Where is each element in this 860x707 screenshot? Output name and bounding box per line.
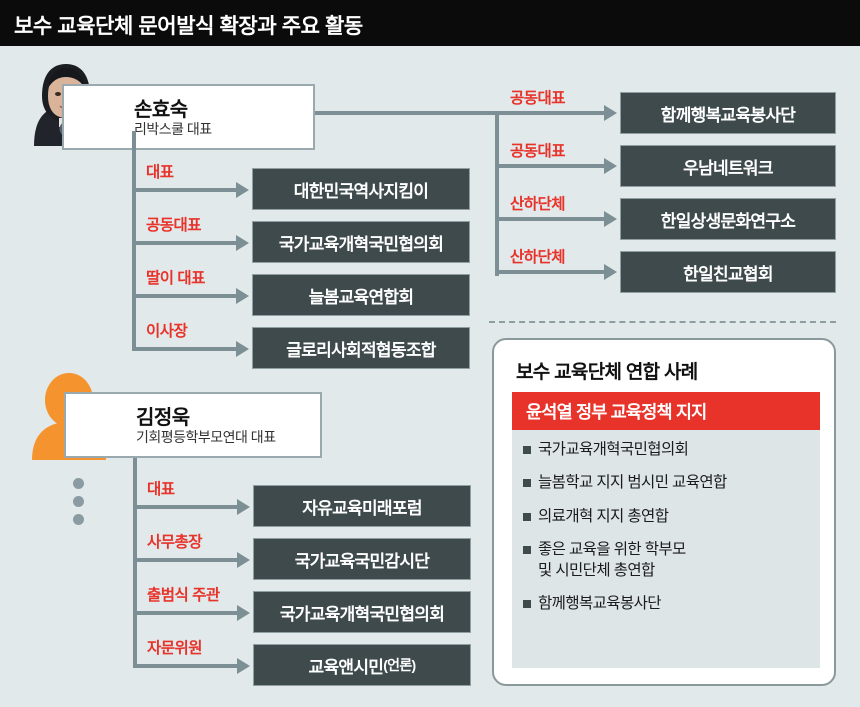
relation-label-son-right-1: 공동대표 xyxy=(510,86,565,108)
connector-son-left-4 xyxy=(132,347,236,351)
arrow-son-left-3 xyxy=(236,288,249,304)
relation-label-son-right-3: 산하단체 xyxy=(510,192,565,214)
relation-label-son-right-4: 산하단체 xyxy=(510,245,565,267)
arrow-son-right-2 xyxy=(604,158,617,174)
org-box-son-right-3: 한일상생문화연구소 xyxy=(620,198,836,240)
page-title: 보수 교육단체 문어발식 확장과 주요 활동 xyxy=(14,10,363,40)
relation-label-son-left-4: 이사장 xyxy=(146,319,187,341)
connector-son-right-trunk xyxy=(495,111,499,276)
arrow-kim-1 xyxy=(237,499,250,515)
org-box-son-left-1: 대한민국역사지킴이 xyxy=(252,168,470,210)
org-box-son-left-2: 국가교육개혁국민협의회 xyxy=(252,221,470,263)
org-box-kim-4-paren: (언론) xyxy=(383,655,415,675)
info-panel-banner: 윤석열 정부 교육정책 지지 xyxy=(512,392,820,430)
connector-son-right-3 xyxy=(495,217,604,221)
list-item: 국가교육개혁국민협의회 xyxy=(512,440,820,460)
arrow-son-left-4 xyxy=(236,341,249,357)
person-name-kim-jeongwook: 김정욱 xyxy=(136,401,190,430)
connector-son-right-4 xyxy=(495,270,604,274)
connector-son-left-2 xyxy=(132,241,236,245)
connector-son-right-2 xyxy=(495,164,604,168)
list-item: 함께행복교육봉사단 xyxy=(512,594,820,614)
person-role-son-hyosook: 리박스쿨 대표 xyxy=(134,119,212,139)
arrow-son-right-4 xyxy=(604,264,617,280)
org-box-son-right-4: 한일친교협회 xyxy=(620,251,836,293)
org-box-kim-4: 교육앤시민(언론) xyxy=(253,644,471,686)
relation-label-son-left-2: 공동대표 xyxy=(146,213,201,235)
arrow-kim-3 xyxy=(237,605,250,621)
ellipsis-dot-3 xyxy=(73,514,84,525)
person-card-son-hyosook xyxy=(62,84,315,150)
org-box-son-left-3: 늘봄교육연합회 xyxy=(252,274,470,316)
connector-kim-3 xyxy=(133,611,237,615)
relation-label-kim-4: 자문위원 xyxy=(147,636,202,658)
ellipsis-dot-2 xyxy=(73,496,84,507)
org-box-kim-3: 국가교육개혁국민협의회 xyxy=(253,591,471,633)
title-bar: 보수 교육단체 문어발식 확장과 주요 활동 xyxy=(0,0,860,46)
relation-label-son-left-3: 딸이 대표 xyxy=(146,266,205,288)
connector-kim-trunk xyxy=(133,458,137,666)
person-role-kim-jeongwook: 기회평등학부모연대 대표 xyxy=(136,427,276,447)
arrow-son-right-1 xyxy=(604,105,617,121)
section-divider xyxy=(489,321,836,323)
relation-label-son-left-1: 대표 xyxy=(146,160,174,182)
connector-kim-2 xyxy=(133,558,237,562)
connector-kim-4 xyxy=(133,664,237,668)
org-box-son-right-2: 우남네트워크 xyxy=(620,145,836,187)
relation-label-kim-2: 사무총장 xyxy=(147,530,202,552)
relation-label-kim-1: 대표 xyxy=(147,477,175,499)
info-panel-title: 보수 교육단체 연합 사례 xyxy=(516,357,698,384)
relation-label-kim-3: 출범식 주관 xyxy=(147,583,220,605)
person-card-kim-jeongwook xyxy=(64,392,322,458)
relation-label-son-right-2: 공동대표 xyxy=(510,139,565,161)
arrow-son-left-2 xyxy=(236,235,249,251)
list-item: 좋은 교육을 위한 학부모 및 시민단체 총연합 xyxy=(512,540,700,581)
person-name-son-hyosook: 손효숙 xyxy=(134,93,188,122)
connector-son-to-right-trunk xyxy=(315,111,499,115)
org-box-kim-1: 자유교육미래포럼 xyxy=(253,485,471,527)
connector-son-left-3 xyxy=(132,294,236,298)
info-panel-body: 윤석열 정부 교육정책 지지 국가교육개혁국민협의회 늘봄학교 지지 범시민 교… xyxy=(512,392,820,668)
list-item: 늘봄학교 지지 범시민 교육연합 xyxy=(512,473,820,493)
infographic-canvas: 보수 교육단체 문어발식 확장과 주요 활동 손효숙 리박스쿨 대표 대표 대한… xyxy=(0,0,860,707)
connector-son-left-1 xyxy=(132,188,236,192)
org-box-son-right-1: 함께행복교육봉사단 xyxy=(620,92,836,134)
ellipsis-dot-1 xyxy=(73,478,84,489)
connector-son-right-1 xyxy=(495,111,604,115)
arrow-son-right-3 xyxy=(604,211,617,227)
arrow-kim-4 xyxy=(237,658,250,674)
org-box-kim-2: 국가교육국민감시단 xyxy=(253,538,471,580)
info-panel-banner-label: 윤석열 정부 교육정책 지지 xyxy=(526,399,707,424)
arrow-kim-2 xyxy=(237,552,250,568)
arrow-son-left-1 xyxy=(236,182,249,198)
list-item: 의료개혁 지지 총연합 xyxy=(512,507,820,527)
connector-kim-1 xyxy=(133,505,237,509)
org-box-son-left-4: 글로리사회적협동조합 xyxy=(252,327,470,369)
info-panel-list: 국가교육개혁국민협의회 늘봄학교 지지 범시민 교육연합 의료개혁 지지 총연합… xyxy=(512,440,820,628)
org-box-kim-4-label: 교육앤시민 xyxy=(309,653,384,678)
info-panel: 보수 교육단체 연합 사례 윤석열 정부 교육정책 지지 국가교육개혁국민협의회… xyxy=(492,338,836,686)
